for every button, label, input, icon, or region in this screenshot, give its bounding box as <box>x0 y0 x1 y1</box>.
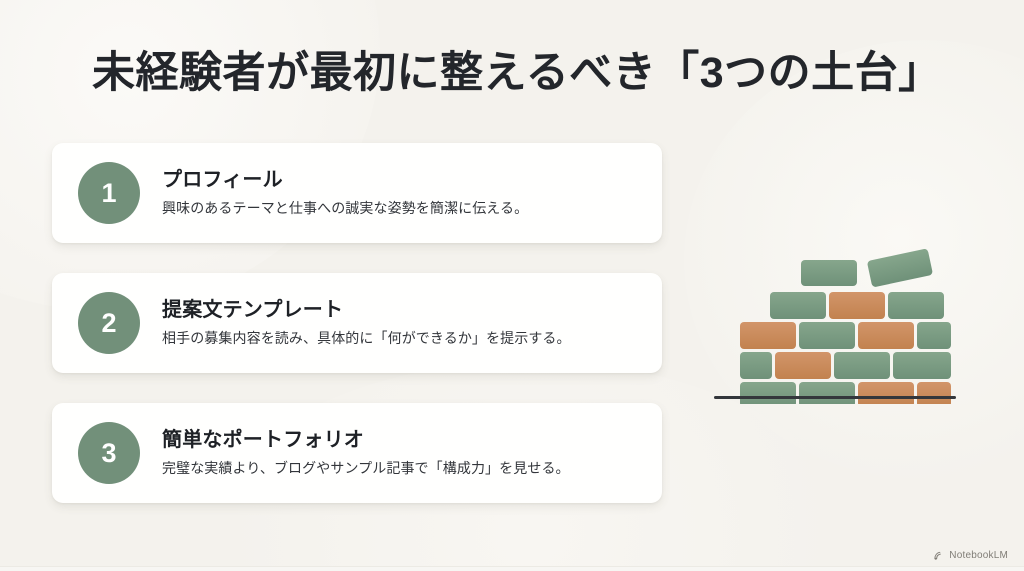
brick-r2-c4 <box>917 322 951 349</box>
brick-r1-c3 <box>888 292 944 319</box>
card-description-3: 完璧な実績より、ブログやサンプル記事で「構成力」を見せる。 <box>162 459 570 478</box>
notebooklm-watermark: NotebookLM <box>933 550 1008 561</box>
foundation-card-3: 3 簡単なポートフォリオ 完璧な実績より、ブログやサンプル記事で「構成力」を見せ… <box>52 403 662 503</box>
brick-r3-c3 <box>834 352 890 379</box>
bottom-edge-strip <box>0 566 1024 571</box>
brick-r1-c2 <box>829 292 885 319</box>
card-text-block-3: 簡単なポートフォリオ 完璧な実績より、ブログやサンプル記事で「構成力」を見せる。 <box>162 428 586 478</box>
brick-r2-c1 <box>740 322 796 349</box>
slide-canvas: 未経験者が最初に整えるべき「3つの土台」 1 プロフィール 興味のあるテーマと仕… <box>0 0 1024 571</box>
brick-wall-illustration <box>706 246 968 404</box>
brick-r3-c1 <box>740 352 772 379</box>
brick-float-green <box>801 260 857 286</box>
brick-r4-c1 <box>740 382 796 404</box>
brick-r3-c2 <box>775 352 831 379</box>
brick-r4-c3 <box>858 382 914 404</box>
brick-wall-svg <box>706 246 968 404</box>
page-title: 未経験者が最初に整えるべき「3つの土台」 <box>92 48 952 99</box>
brick-tilted-green <box>867 248 933 287</box>
notebooklm-spark-icon <box>933 550 944 561</box>
step-number-badge-1: 1 <box>78 162 140 224</box>
brick-r2-c2 <box>799 322 855 349</box>
brick-r1-c1 <box>770 292 826 319</box>
notebooklm-watermark-label: NotebookLM <box>949 550 1008 561</box>
foundation-card-2: 2 提案文テンプレート 相手の募集内容を読み、具体的に「何ができるか」を提示する… <box>52 273 662 373</box>
brick-r4-c4 <box>917 382 951 404</box>
brick-r3-c4 <box>893 352 951 379</box>
step-number-badge-2: 2 <box>78 292 140 354</box>
card-heading-2: 提案文テンプレート <box>162 298 571 323</box>
card-heading-1: プロフィール <box>162 168 528 193</box>
ground-line <box>714 396 956 399</box>
card-description-1: 興味のあるテーマと仕事への誠実な姿勢を簡潔に伝える。 <box>162 199 528 218</box>
card-text-block-2: 提案文テンプレート 相手の募集内容を読み、具体的に「何ができるか」を提示する。 <box>162 298 587 348</box>
step-number-badge-3: 3 <box>78 422 140 484</box>
brick-r2-c3 <box>858 322 914 349</box>
card-description-2: 相手の募集内容を読み、具体的に「何ができるか」を提示する。 <box>162 329 571 348</box>
brick-r4-c2 <box>799 382 855 404</box>
card-text-block-1: プロフィール 興味のあるテーマと仕事への誠実な姿勢を簡潔に伝える。 <box>162 168 544 218</box>
card-heading-3: 簡単なポートフォリオ <box>162 428 570 453</box>
foundation-card-1: 1 プロフィール 興味のあるテーマと仕事への誠実な姿勢を簡潔に伝える。 <box>52 143 662 243</box>
